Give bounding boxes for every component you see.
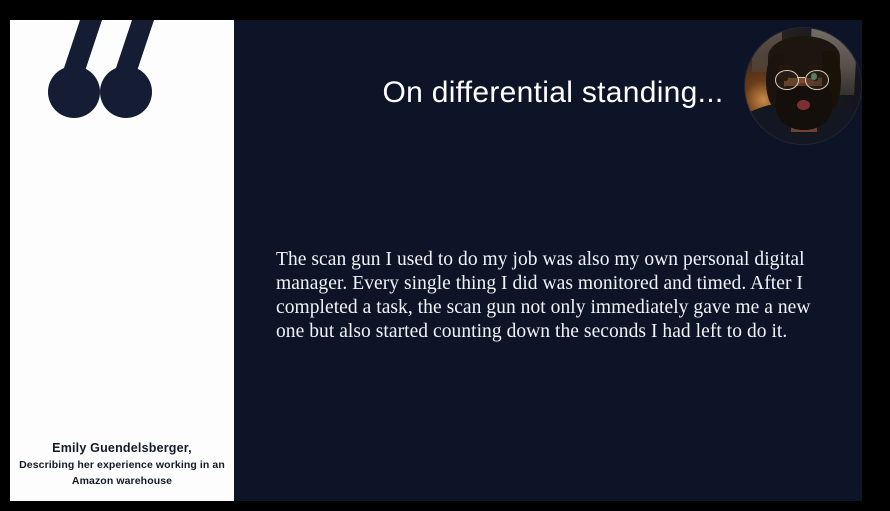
glasses-bridge-icon (797, 77, 805, 79)
quote-attribution: Emily Guendelsberger, Describing her exp… (10, 439, 234, 489)
quote-body-text: The scan gun I used to do my job was als… (276, 248, 832, 344)
quote-panel: Emily Guendelsberger, Describing her exp… (10, 20, 234, 501)
screen-recording-frame: Emily Guendelsberger, Describing her exp… (0, 0, 890, 511)
presenter-eyebrow-left (777, 65, 794, 68)
attribution-name: Emily Guendelsberger, (10, 439, 234, 457)
presentation-slide: Emily Guendelsberger, Describing her exp… (10, 20, 862, 501)
double-quote-icon (48, 20, 168, 130)
webcam-background (745, 28, 861, 144)
presenter-video-bubble[interactable] (745, 28, 861, 144)
attribution-description: Describing her experience working in an … (10, 457, 234, 489)
